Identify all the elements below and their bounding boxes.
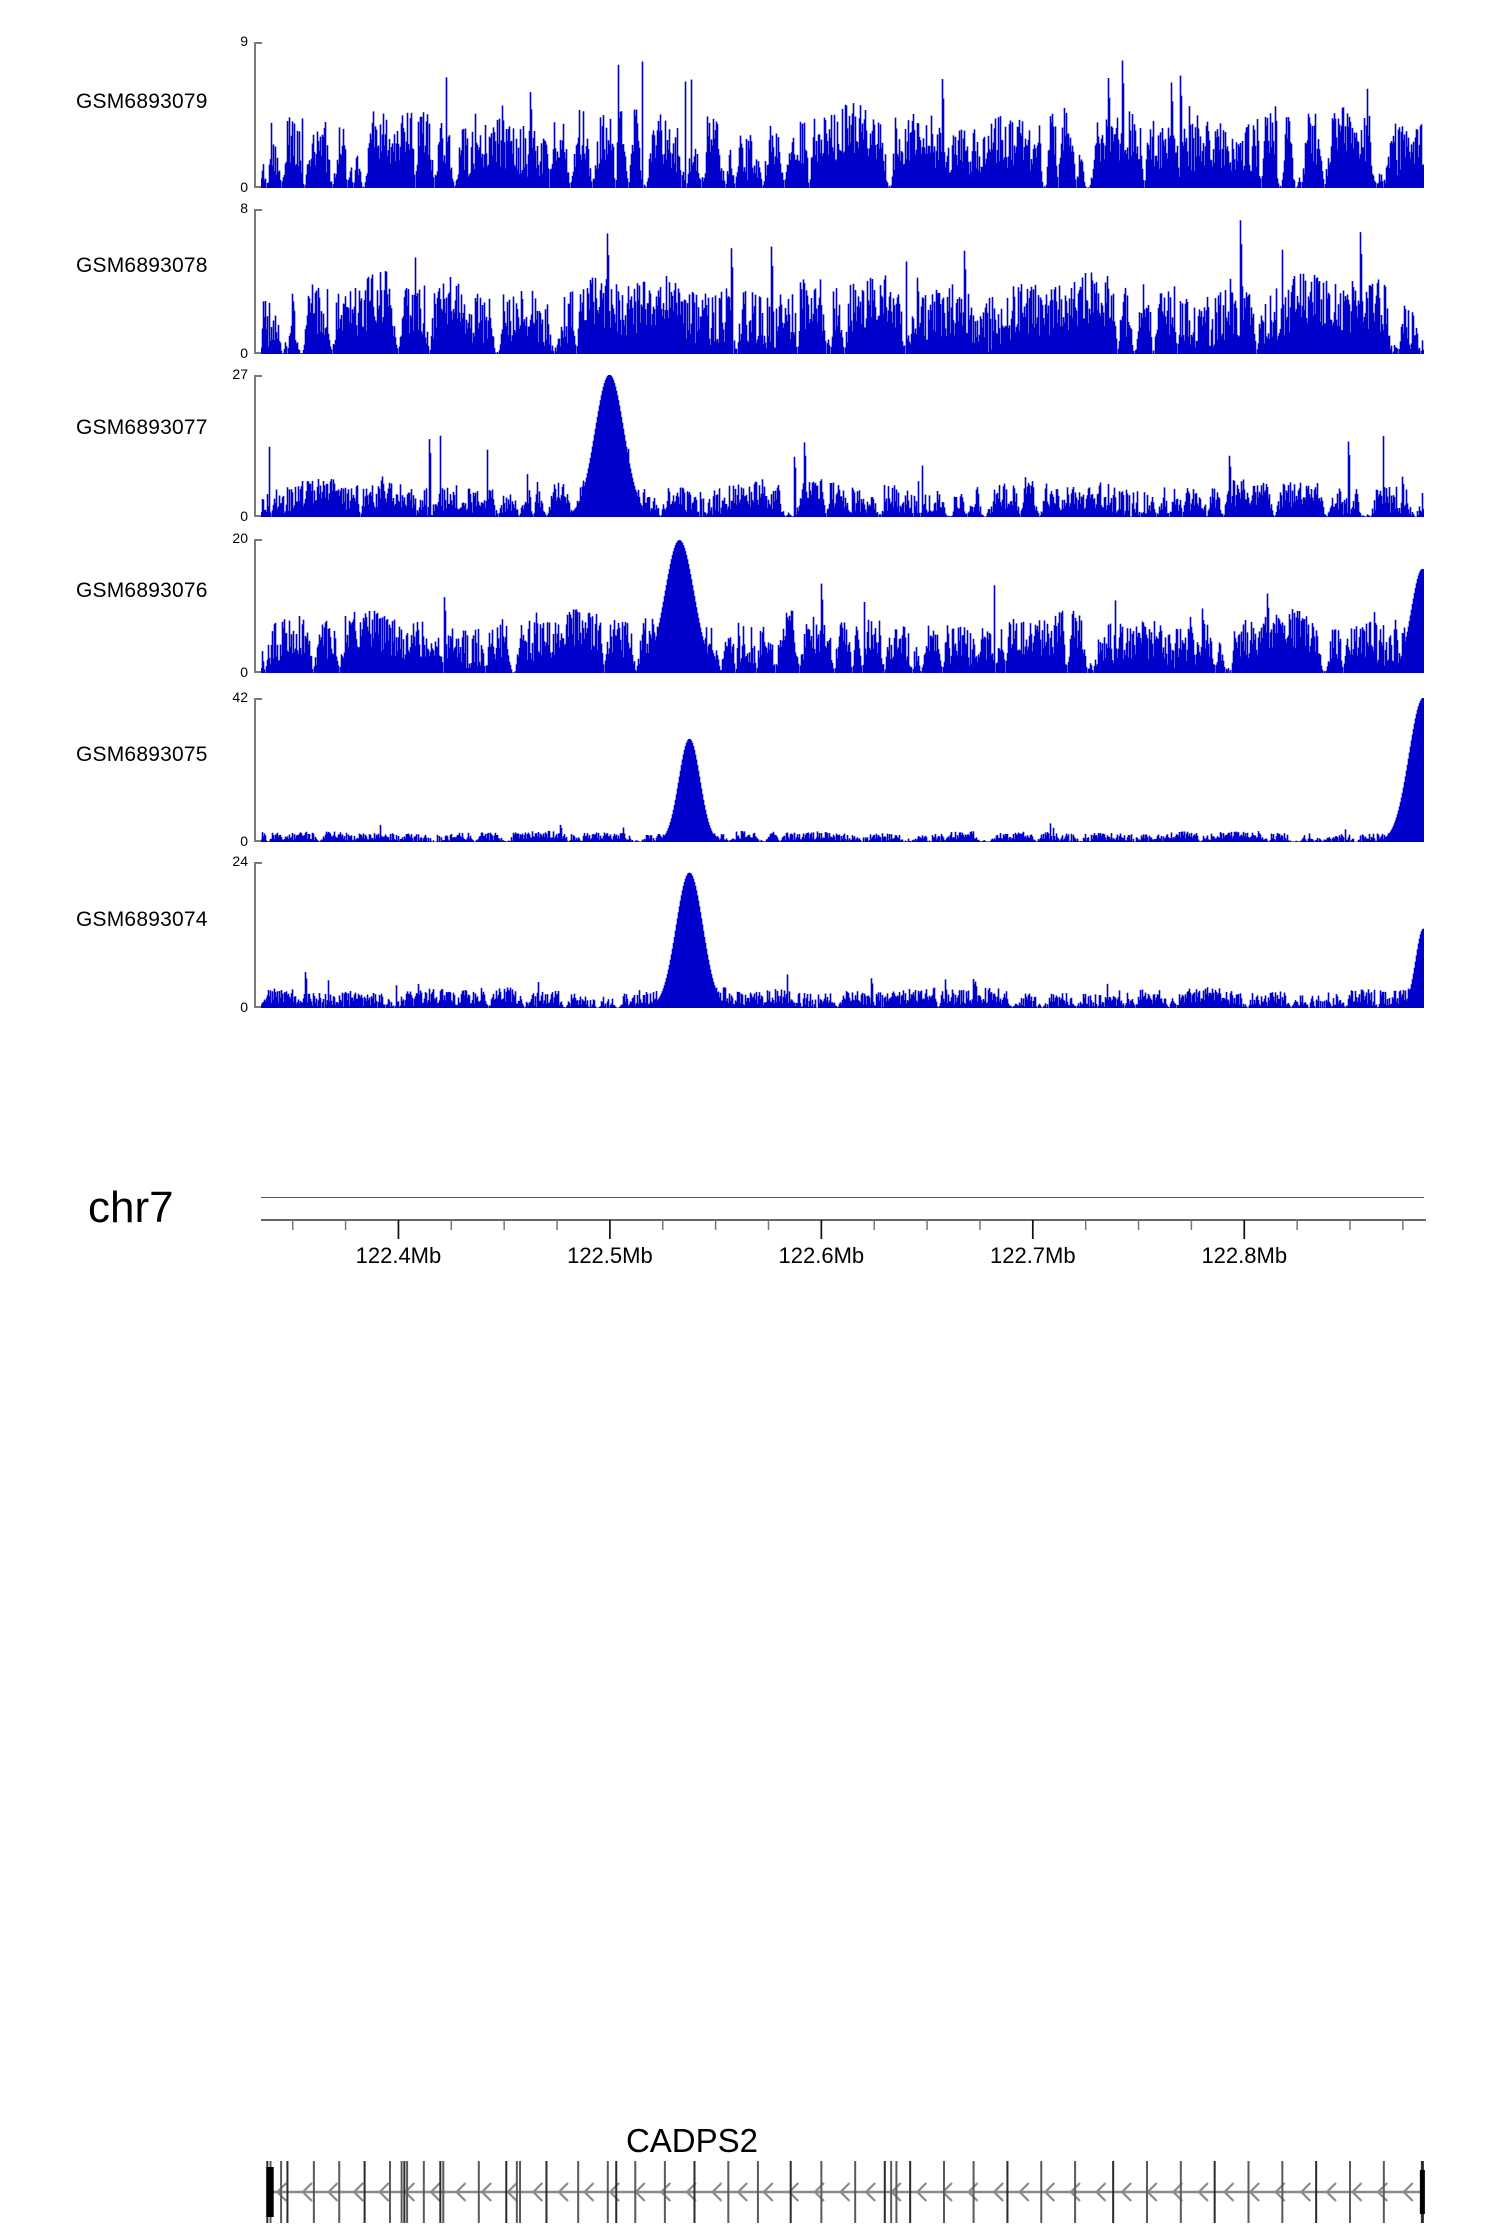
coverage-histogram	[261, 539, 1424, 673]
exon-mark[interactable]	[389, 2161, 391, 2223]
exon-mark[interactable]	[634, 2161, 636, 2223]
track-label-GSM6893075: GSM6893075	[76, 743, 208, 767]
exon-mark[interactable]	[403, 2161, 405, 2223]
exon-mark[interactable]	[1349, 2161, 1351, 2223]
chromosome-label: chr7	[88, 1183, 174, 1233]
y-axis-min-label: 0	[240, 179, 248, 195]
y-axis-min-label: 0	[240, 508, 248, 524]
exon-mark[interactable]	[406, 2161, 408, 2223]
exon-mark[interactable]	[890, 2161, 892, 2223]
track-separator-line	[261, 1197, 1424, 1198]
axis-tick-label: 122.8Mb	[1201, 1243, 1287, 1269]
track-label-GSM6893074: GSM6893074	[76, 908, 208, 932]
exon-mark[interactable]	[1112, 2161, 1114, 2223]
y-axis-max-label: 42	[232, 689, 248, 705]
track-label-GSM6893078: GSM6893078	[76, 254, 208, 278]
coverage-plot	[261, 209, 1424, 354]
exon-mark[interactable]	[423, 2161, 425, 2223]
exon-mark[interactable]	[505, 2161, 507, 2223]
exon-mark[interactable]	[519, 2161, 521, 2223]
exon-mark[interactable]	[286, 2161, 288, 2223]
exon-mark[interactable]	[577, 2161, 579, 2223]
exon-mark[interactable]	[478, 2161, 480, 2223]
axis-tick-label: 122.4Mb	[356, 1243, 442, 1269]
coverage-histogram	[261, 42, 1424, 188]
exon-mark[interactable]	[1040, 2161, 1042, 2223]
exon-mark[interactable]	[1006, 2161, 1008, 2223]
utr-block[interactable]	[266, 2167, 273, 2217]
coverage-histogram	[261, 862, 1424, 1008]
axis-tick-label: 122.6Mb	[779, 1243, 865, 1269]
coverage-histogram	[261, 375, 1424, 517]
exon-mark[interactable]	[615, 2161, 617, 2223]
y-axis-min-label: 0	[240, 999, 248, 1015]
axis-tick-label: 122.7Mb	[990, 1243, 1076, 1269]
exon-mark[interactable]	[854, 2161, 856, 2223]
gene-name-label: CADPS2	[0, 2122, 1500, 2160]
coverage-plot	[261, 42, 1424, 188]
exon-mark[interactable]	[442, 2161, 444, 2223]
exon-mark[interactable]	[439, 2161, 441, 2223]
track-label-GSM6893079: GSM6893079	[76, 90, 208, 114]
exon-mark[interactable]	[280, 2161, 282, 2223]
coverage-plot	[261, 539, 1424, 673]
y-axis-max-label: 20	[232, 530, 248, 546]
exon-mark[interactable]	[664, 2161, 666, 2223]
exon-mark[interactable]	[895, 2161, 897, 2223]
exon-mark[interactable]	[1074, 2161, 1076, 2223]
exon-mark[interactable]	[1214, 2161, 1216, 2223]
y-axis-min-label: 0	[240, 664, 248, 680]
exon-mark[interactable]	[338, 2161, 340, 2223]
axis-ticks-svg[interactable]	[261, 1219, 1428, 1241]
exon-mark[interactable]	[693, 2161, 695, 2223]
exon-mark[interactable]	[545, 2161, 547, 2223]
y-axis-min-label: 0	[240, 833, 248, 849]
exon-mark[interactable]	[973, 2161, 975, 2223]
exon-mark[interactable]	[607, 2161, 609, 2223]
axis-tick-label: 122.5Mb	[567, 1243, 653, 1269]
coverage-histogram	[261, 698, 1424, 842]
exon-mark[interactable]	[313, 2161, 315, 2223]
exon-mark[interactable]	[909, 2161, 911, 2223]
y-axis-min-label: 0	[240, 345, 248, 361]
exon-mark[interactable]	[1281, 2161, 1283, 2223]
exon-mark[interactable]	[401, 2161, 403, 2223]
y-axis-max-label: 8	[240, 200, 248, 216]
exon-mark[interactable]	[884, 2161, 886, 2223]
y-axis-max-label: 24	[232, 853, 248, 869]
coverage-plot	[261, 698, 1424, 842]
exon-mark[interactable]	[790, 2161, 792, 2223]
track-label-GSM6893077: GSM6893077	[76, 416, 208, 440]
exon-mark[interactable]	[757, 2161, 759, 2223]
exon-mark[interactable]	[1180, 2161, 1182, 2223]
gene-structure-svg[interactable]	[261, 2158, 1428, 2226]
coverage-plot	[261, 375, 1424, 517]
exon-mark[interactable]	[364, 2161, 366, 2223]
exon-mark[interactable]	[1247, 2161, 1249, 2223]
exon-mark[interactable]	[820, 2161, 822, 2223]
terminal-exon-block[interactable]	[1420, 2170, 1425, 2214]
exon-mark[interactable]	[1383, 2161, 1385, 2223]
track-label-GSM6893076: GSM6893076	[76, 579, 208, 603]
y-axis-max-label: 27	[232, 366, 248, 382]
exon-mark[interactable]	[727, 2161, 729, 2223]
coverage-plot	[261, 862, 1424, 1008]
exon-mark[interactable]	[943, 2161, 945, 2223]
gene-model-track[interactable]: CADPS2	[0, 1060, 1500, 1180]
exon-mark[interactable]	[516, 2161, 518, 2223]
gene-name-text: CADPS2	[626, 2122, 758, 2159]
exon-mark[interactable]	[1146, 2161, 1148, 2223]
coverage-histogram	[261, 209, 1424, 354]
y-axis-max-label: 9	[240, 33, 248, 49]
exon-mark[interactable]	[1315, 2161, 1317, 2223]
